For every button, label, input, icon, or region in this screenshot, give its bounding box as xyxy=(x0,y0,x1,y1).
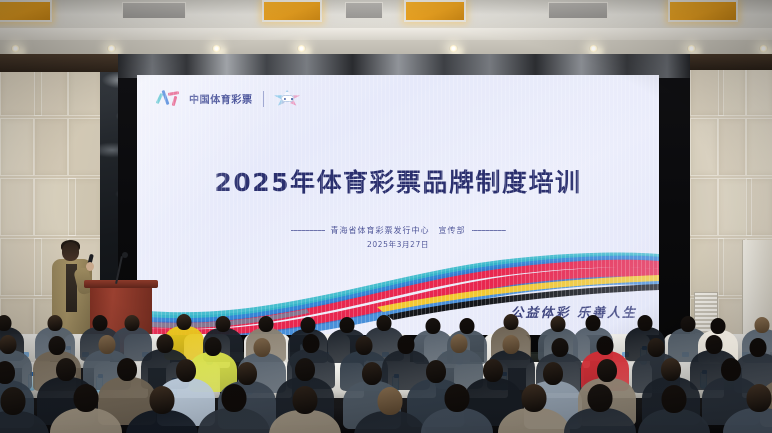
audience-person xyxy=(354,387,426,433)
audience-area xyxy=(0,318,772,433)
person-head xyxy=(596,336,613,355)
person-head xyxy=(504,314,519,330)
person-head xyxy=(176,314,191,330)
audience-person xyxy=(564,384,636,433)
ceiling-spotlight xyxy=(687,45,696,52)
person-head xyxy=(99,335,116,354)
person-head xyxy=(302,334,319,353)
person-head xyxy=(377,315,392,331)
ceiling-light-panel xyxy=(0,0,52,22)
person-head xyxy=(301,317,316,333)
ceiling-diffuser-panel xyxy=(122,2,186,19)
person-head xyxy=(754,317,769,333)
audience-person xyxy=(0,387,49,433)
person-head xyxy=(377,387,402,415)
audience-person xyxy=(198,384,270,433)
person-head xyxy=(355,336,372,355)
person-head xyxy=(680,316,695,332)
audience-person xyxy=(421,384,493,433)
person-head xyxy=(551,316,566,332)
ceiling-soffit xyxy=(0,28,772,40)
ceiling-spotlight xyxy=(107,45,116,52)
person-head xyxy=(662,385,687,413)
person-head xyxy=(253,338,270,357)
person-head xyxy=(292,386,317,414)
ceiling-spotlight xyxy=(759,45,768,52)
person-head xyxy=(483,359,503,382)
sports-lottery-tick-icon xyxy=(155,89,182,108)
projection-screen: 中国体育彩票 2025年体育彩票品牌制度培训 青海省体育彩票发行中心 宣传部 2… xyxy=(137,75,659,335)
person-head xyxy=(444,384,469,412)
subtitle-rule-left xyxy=(291,230,325,231)
person-head xyxy=(521,384,546,412)
ceiling-spotlight xyxy=(297,45,306,52)
person-head xyxy=(156,334,173,353)
speaker-hand xyxy=(86,262,94,271)
wall-trim-right xyxy=(688,54,772,70)
person-head xyxy=(543,362,563,385)
conference-hall-scene: 中国体育彩票 2025年体育彩票品牌制度培训 青海省体育彩票发行中心 宣传部 2… xyxy=(0,0,772,433)
ceiling-light-panel xyxy=(668,0,738,22)
slide-logo: 中国体育彩票 xyxy=(155,89,301,108)
person-head xyxy=(237,362,257,385)
ceiling-spotlight xyxy=(449,45,458,52)
podium-mic-head xyxy=(122,252,128,258)
audience-person xyxy=(723,384,772,433)
ceiling-spotlight xyxy=(11,45,20,52)
wall-panel-tile xyxy=(34,118,68,176)
ceiling-spotlight xyxy=(212,45,221,52)
person-head xyxy=(637,315,652,331)
audience-person xyxy=(498,384,570,433)
person-head xyxy=(339,317,354,333)
person-head xyxy=(588,384,613,412)
person-head xyxy=(451,334,468,353)
wall-panel-tile xyxy=(0,118,34,176)
person-head xyxy=(711,318,726,334)
person-head xyxy=(648,338,665,357)
ceiling-light-panel xyxy=(404,0,466,22)
person-head xyxy=(426,360,446,383)
person-head xyxy=(49,336,66,355)
wall-panel-tile xyxy=(718,118,746,176)
person-head xyxy=(56,358,76,381)
person-head xyxy=(221,384,246,412)
person-head xyxy=(150,386,175,414)
person-head xyxy=(460,318,475,334)
person-head xyxy=(721,358,741,381)
person-head xyxy=(362,362,382,385)
wall-panel-tile xyxy=(746,178,772,236)
slide-subtitle: 青海省体育彩票发行中心 宣传部 xyxy=(137,225,659,236)
wall-panel-tile xyxy=(0,178,34,236)
person-head xyxy=(750,338,767,357)
ceiling-light-panel xyxy=(262,0,322,22)
person-head xyxy=(295,358,315,381)
person-head xyxy=(47,315,62,331)
logo-divider xyxy=(263,91,264,107)
person-head xyxy=(259,316,274,332)
person-head xyxy=(551,338,568,357)
ceiling-diffuser-panel xyxy=(548,2,608,19)
subtitle-rule-right xyxy=(472,230,506,231)
podium-top xyxy=(84,280,158,288)
brand-name-text: 中国体育彩票 xyxy=(189,91,253,106)
speaker-head xyxy=(62,242,79,261)
lottery-mascot-star-icon xyxy=(274,89,301,108)
person-torso xyxy=(723,408,772,433)
audience-person xyxy=(50,384,122,433)
audience-person xyxy=(126,386,198,433)
person-head xyxy=(398,335,415,354)
person-head xyxy=(117,358,137,381)
person-torso xyxy=(0,411,49,433)
wall-panel-tile xyxy=(690,118,718,176)
ceiling-spotlight xyxy=(589,45,598,52)
slide-title: 2025年体育彩票品牌制度培训 xyxy=(137,163,659,199)
person-head xyxy=(746,384,771,412)
wall-panel-tile xyxy=(68,178,102,236)
person-head xyxy=(0,335,17,354)
audience-person xyxy=(269,386,341,433)
person-head xyxy=(585,315,600,331)
person-head xyxy=(176,359,196,382)
wall-panel-tile xyxy=(746,118,772,176)
person-head xyxy=(216,316,231,332)
person-head xyxy=(125,315,140,331)
person-head xyxy=(426,318,441,334)
wall-panel-tile xyxy=(690,178,718,236)
person-head xyxy=(502,335,519,354)
audience-person xyxy=(638,385,710,433)
person-head xyxy=(205,337,222,356)
person-head xyxy=(597,359,617,382)
person-head xyxy=(661,358,681,381)
person-head xyxy=(92,315,107,331)
ceiling-diffuser-panel xyxy=(345,2,383,19)
person-head xyxy=(74,384,99,412)
person-head xyxy=(705,335,722,354)
person-head xyxy=(1,387,26,415)
subtitle-text: 青海省体育彩票发行中心 宣传部 xyxy=(331,225,466,236)
